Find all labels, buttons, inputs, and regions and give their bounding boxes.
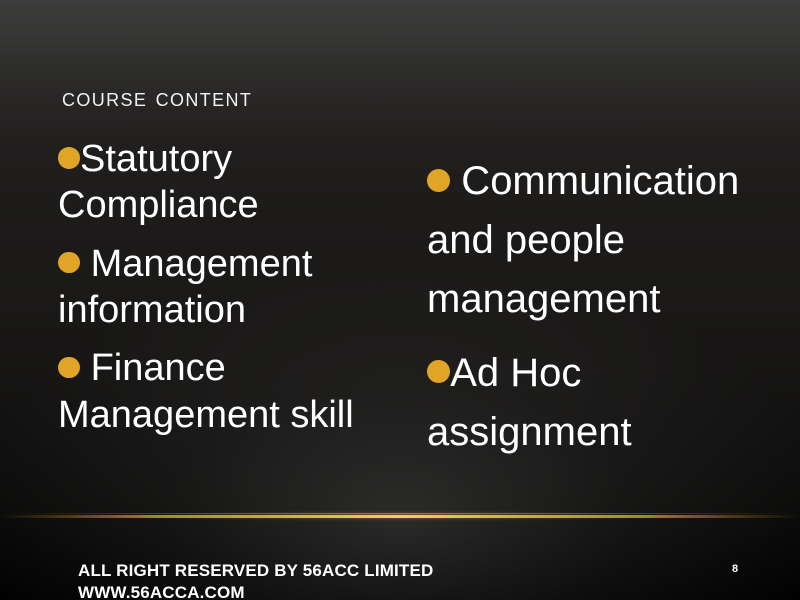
page-title: Course Content [62, 84, 252, 113]
list-item: Finance Management skill [58, 345, 418, 438]
list-item: Communication and people management [427, 152, 777, 330]
bullet-list-right: Communication and people management Ad H… [427, 152, 777, 462]
list-item-label: Finance Management skill [58, 347, 354, 435]
gold-divider-secondary-line [0, 513, 800, 514]
bullet-dot-icon [58, 252, 80, 274]
bullet-dot-icon [58, 357, 80, 379]
slide-canvas: Course Content Statutory Compliance Mana… [0, 0, 800, 600]
list-item: Ad Hoc assignment [427, 344, 777, 462]
list-item-label: Statutory Compliance [58, 138, 259, 226]
footer-line-2: WWW.56ACCA.COM [78, 582, 433, 600]
list-item: Statutory Compliance [58, 136, 418, 229]
gold-divider [0, 504, 800, 530]
list-item-label: Ad Hoc assignment [427, 351, 632, 454]
bullet-dot-icon [427, 360, 450, 383]
footer-copyright: ALL RIGHT RESERVED BY 56ACC LIMITED WWW.… [78, 560, 433, 600]
gold-divider-line [0, 515, 800, 518]
slide-page-number: 8 [732, 563, 738, 575]
footer-line-1: ALL RIGHT RESERVED BY 56ACC LIMITED [78, 560, 433, 582]
bullet-dot-icon [58, 147, 80, 169]
list-item: Management information [58, 241, 418, 334]
gold-divider-glow [0, 509, 800, 523]
list-item-label: Management information [58, 243, 323, 331]
bullet-dot-icon [427, 169, 450, 192]
bullet-list-left: Statutory Compliance Management informat… [58, 136, 418, 438]
list-item-label: Communication and people management [427, 159, 750, 321]
